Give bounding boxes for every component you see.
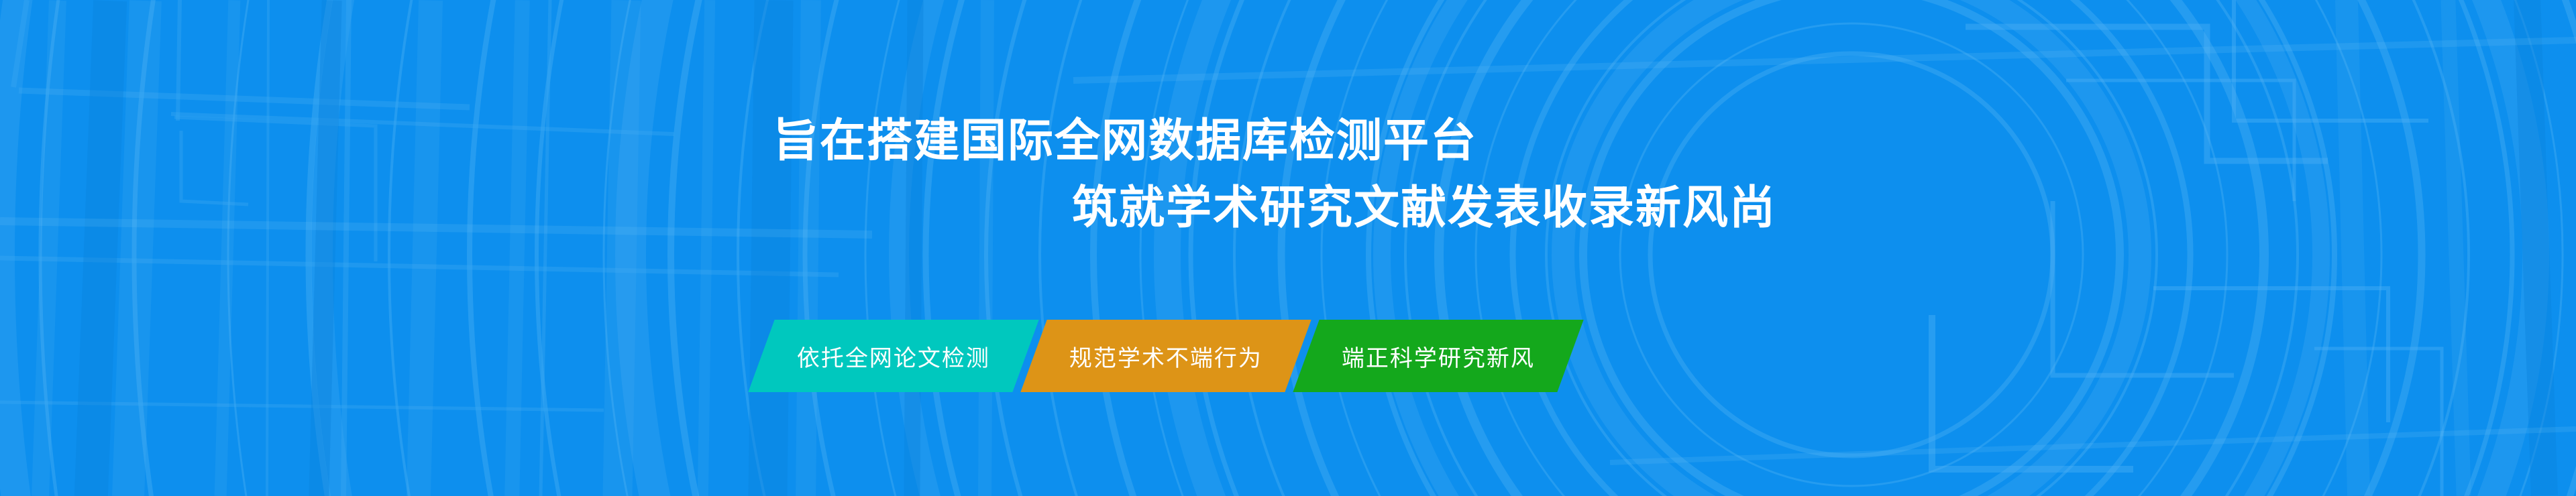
feature-badge-misconduct-label: 规范学术不端行为 [1069, 340, 1263, 373]
feature-badge-detection[interactable]: 依托全网论文检测 [748, 320, 1038, 392]
headline-line-2: 筑就学术研究文献发表收录新风尚 [1072, 174, 2576, 241]
feature-badge-strip: 依托全网论文检测 规范学术不端行为 端正科学研究新风 [761, 320, 1570, 392]
background-decoration [0, 0, 2576, 496]
feature-badge-detection-label: 依托全网论文检测 [797, 340, 990, 373]
headline-block: 旨在搭建国际全网数据库检测平台 筑就学术研究文献发表收录新风尚 [0, 107, 2576, 241]
feature-badge-ethos[interactable]: 端正科学研究新风 [1293, 320, 1583, 392]
hero-banner: 旨在搭建国际全网数据库检测平台 筑就学术研究文献发表收录新风尚 依托全网论文检测… [0, 0, 2576, 496]
headline-line-1: 旨在搭建国际全网数据库检测平台 [773, 107, 2576, 174]
feature-badge-ethos-label: 端正科学研究新风 [1342, 340, 1535, 373]
feature-badge-misconduct[interactable]: 规范学术不端行为 [1020, 320, 1311, 392]
